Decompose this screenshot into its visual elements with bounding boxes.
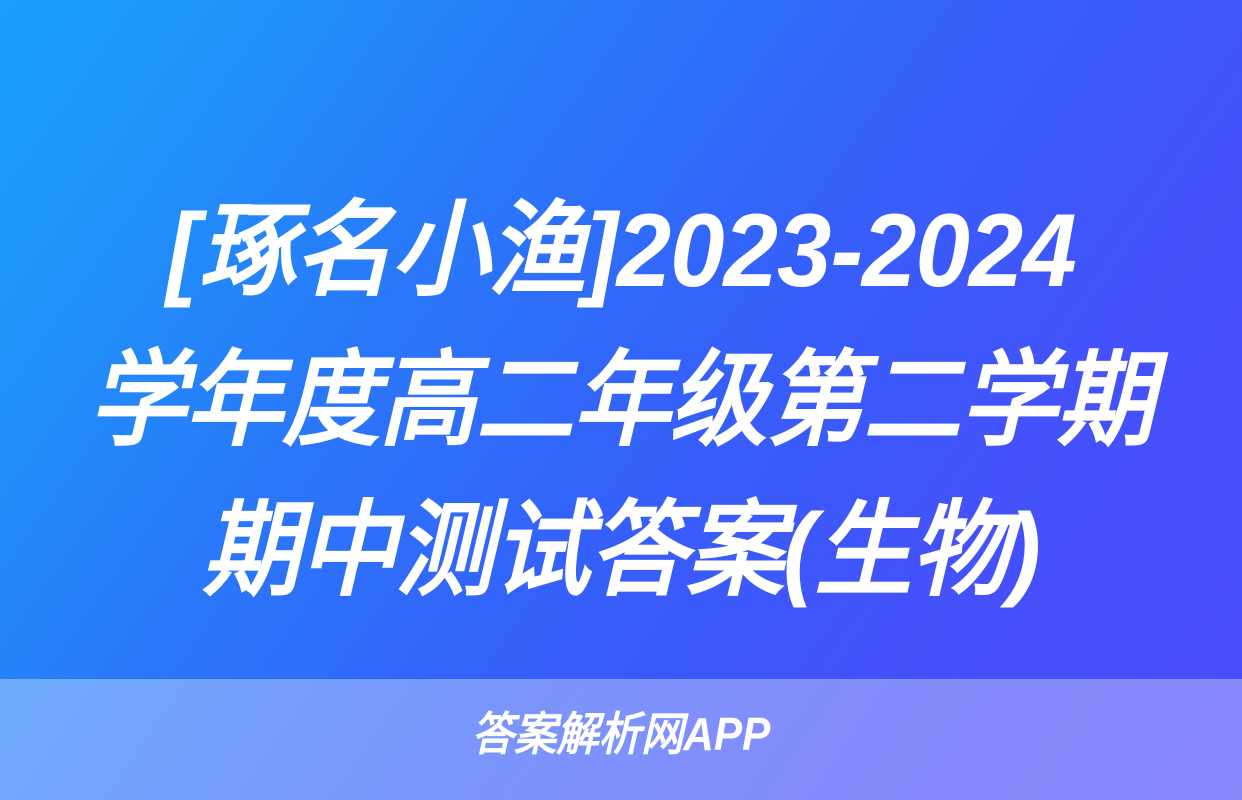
cover-canvas: [琢名小渔]2023-2024 学年度高二年级第二学期 期中测试答案(生物) 答… — [0, 0, 1242, 800]
title-line-3: 期中测试答案(生物) — [37, 476, 1204, 626]
cover-title-block: [琢名小渔]2023-2024 学年度高二年级第二学期 期中测试答案(生物) — [0, 176, 1242, 636]
title-line-1: [琢名小渔]2023-2024 — [37, 176, 1204, 326]
title-line-2: 学年度高二年级第二学期 — [37, 326, 1204, 476]
app-watermark: 答案解析网APP — [50, 706, 1193, 762]
